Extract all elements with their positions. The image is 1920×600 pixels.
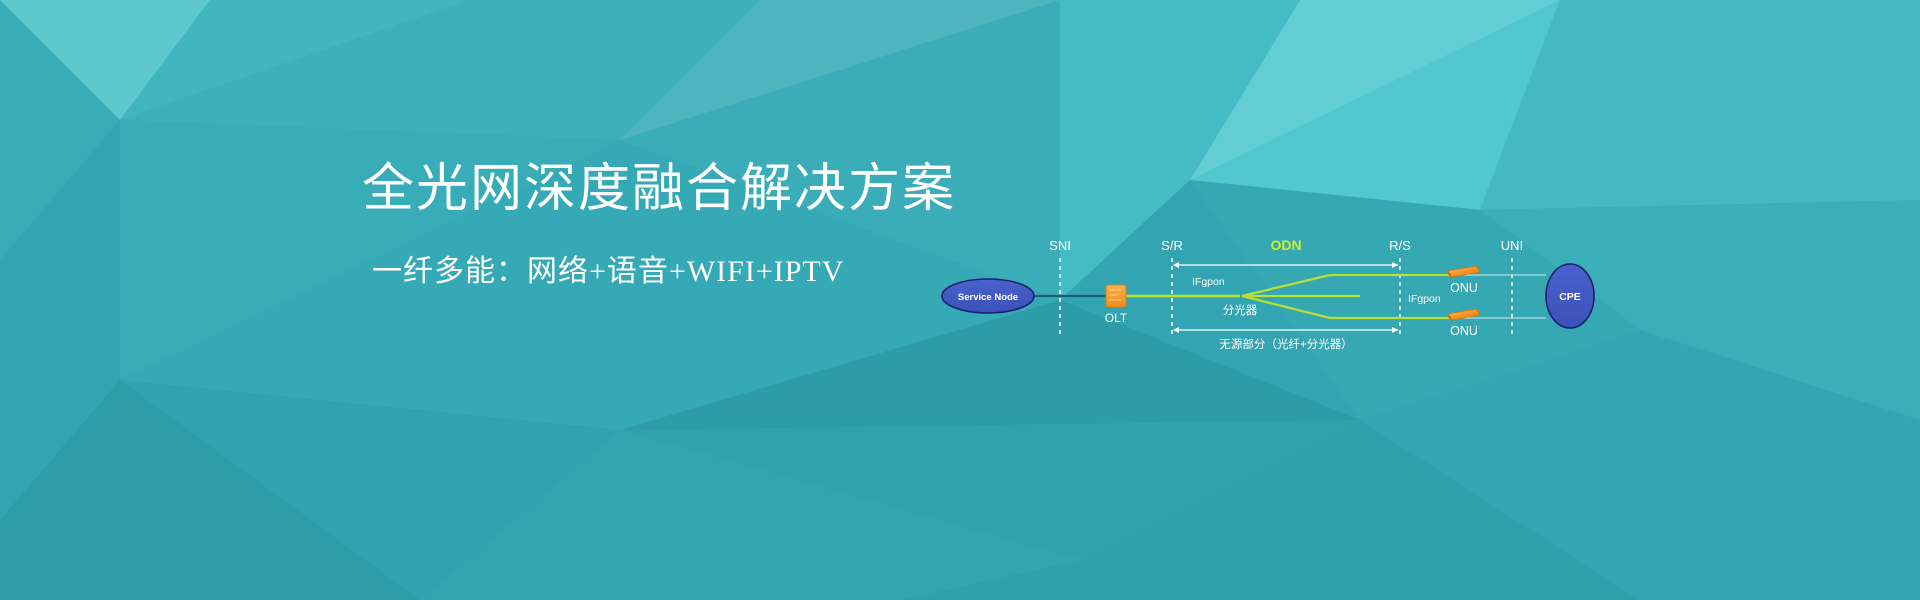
label-rs: R/S [1389,238,1411,253]
label-ifgpon-left: IFgpon [1192,276,1225,288]
label-sr: S/R [1161,238,1183,253]
node-cpe-label: CPE [1559,291,1581,303]
banner-hero: 全光网深度融合解决方案 一纤多能：网络+语音+WIFI+IPTV [0,0,1920,600]
page-subtitle: 一纤多能：网络+语音+WIFI+IPTV [372,254,940,290]
node-olt[interactable]: OLT [1105,285,1128,325]
node-olt-label: OLT [1105,311,1128,325]
label-splitter: 分光器 [1223,303,1258,317]
gpon-odn-diagram: SNI S/R R/S UNI ODN [940,230,1640,370]
splitter-branch-up [1242,275,1330,296]
page-title: 全光网深度融合解决方案 [362,160,940,220]
node-service-node-label: Service Node [958,292,1018,303]
node-onu-1[interactable]: ONU [1448,266,1480,295]
label-uni: UNI [1501,238,1523,253]
node-cpe[interactable]: CPE [1546,264,1594,328]
reference-lines [1060,258,1512,338]
splitter-fanout [1242,275,1360,318]
node-onu-2[interactable]: ONU [1448,309,1480,338]
label-sni: SNI [1049,238,1071,253]
node-service-node[interactable]: Service Node [942,279,1034,313]
label-odn: ODN [1270,237,1301,253]
diagram-canvas: SNI S/R R/S UNI ODN [940,230,1640,370]
node-onu-2-label: ONU [1450,324,1478,338]
hero-text-block: 全光网深度融合解决方案 一纤多能：网络+语音+WIFI+IPTV [300,160,940,290]
label-ifgpon-right: IFgpon [1408,293,1441,305]
node-onu-1-label: ONU [1450,281,1478,295]
label-passive-caption: 无源部分（光纤+分光器） [1219,337,1352,351]
